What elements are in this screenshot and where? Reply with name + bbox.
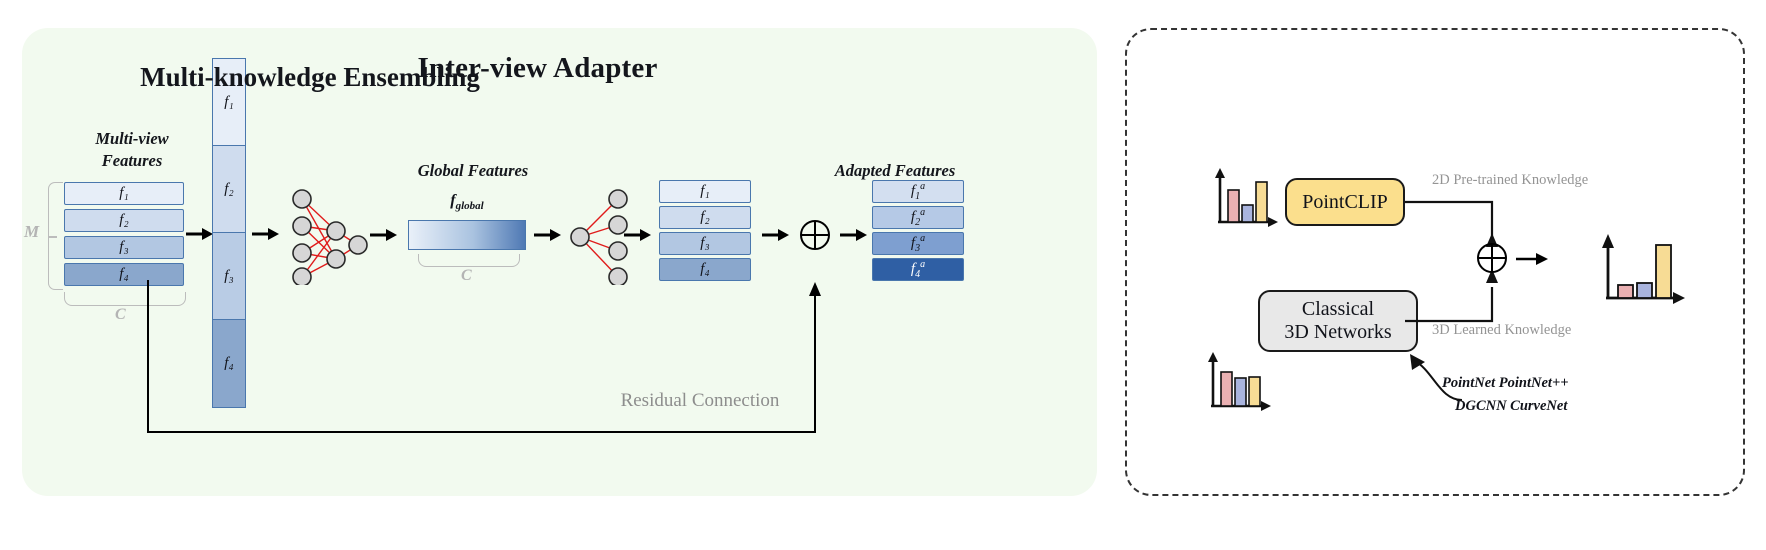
column-cell: f₂ xyxy=(212,145,246,233)
label-m: M xyxy=(24,222,39,242)
arrow-icon xyxy=(370,225,398,245)
arrow-icon xyxy=(252,224,280,244)
encoder-mlp-graph xyxy=(286,185,368,285)
arrow-icon xyxy=(186,224,214,244)
decoded-feature-stack: f₁ f₂ f₃ f₄ xyxy=(659,180,751,284)
label-f-global: fglobal xyxy=(408,192,526,212)
box-classical-3d-networks[interactable]: Classical 3D Networks xyxy=(1258,290,1418,352)
feature-row: f₁ xyxy=(64,182,184,205)
feature-row: f₄ xyxy=(659,258,751,281)
arrow-icon xyxy=(1516,249,1550,269)
ensembling-connectors xyxy=(1400,195,1530,330)
caption-global-features: Global Features xyxy=(378,160,568,182)
arrow-icon xyxy=(762,225,790,245)
feature-row: f4a xyxy=(872,258,964,281)
arrow-icon xyxy=(534,225,562,245)
diagram-canvas: Inter-view Adapter Multi-view Features G… xyxy=(0,0,1766,550)
chart-pointclip-logits xyxy=(1212,168,1280,230)
box-label-line-1: Classical xyxy=(1284,298,1391,321)
page-title-multi-knowledge-ensembling: Multi-knowledge Ensembling xyxy=(0,62,620,93)
caption-line-2: Features xyxy=(42,150,222,172)
caption-adapted-features: Adapted Features xyxy=(790,160,1000,182)
caption-line-1: Multi-view xyxy=(42,128,222,150)
feature-row: f3a xyxy=(872,232,964,255)
feature-row: f1a xyxy=(872,180,964,203)
arrow-icon xyxy=(624,225,652,245)
box-pointclip[interactable]: PointCLIP xyxy=(1285,178,1405,226)
label-network-names-line-1: PointNet PointNet++ xyxy=(1442,375,1568,392)
caption-multi-view-features: Multi-view Features xyxy=(42,128,222,172)
feature-row: f₃ xyxy=(64,236,184,259)
label-c: C xyxy=(115,306,126,324)
feature-row: f2a xyxy=(872,206,964,229)
global-feature-bar xyxy=(408,220,526,250)
box-label-line-2: 3D Networks xyxy=(1284,321,1391,344)
c-brace-global xyxy=(418,254,520,267)
label-3d-learned-knowledge: 3D Learned Knowledge xyxy=(1432,322,1571,339)
multi-view-feature-stack: f₁ f₂ f₃ f₄ xyxy=(64,182,184,288)
chart-ensembled-logits xyxy=(1598,232,1690,312)
chart-3dnet-logits xyxy=(1205,352,1273,414)
sum-operator-icon xyxy=(798,218,832,252)
label-residual-connection: Residual Connection xyxy=(600,390,800,412)
m-brace xyxy=(48,182,63,290)
feature-row: f₂ xyxy=(64,209,184,232)
adapted-feature-stack: f1a f2a f3a f4a xyxy=(872,180,964,284)
feature-row: f₂ xyxy=(659,206,751,229)
label-2d-pretrained-knowledge: 2D Pre-trained Knowledge xyxy=(1432,172,1588,189)
arrow-icon xyxy=(840,225,868,245)
label-network-names-line-2: DGCNN CurveNet xyxy=(1455,398,1567,415)
sum-operator-icon xyxy=(1475,241,1509,275)
residual-connection-path xyxy=(140,280,830,460)
feature-row: f₁ xyxy=(659,180,751,203)
feature-row: f₃ xyxy=(659,232,751,255)
